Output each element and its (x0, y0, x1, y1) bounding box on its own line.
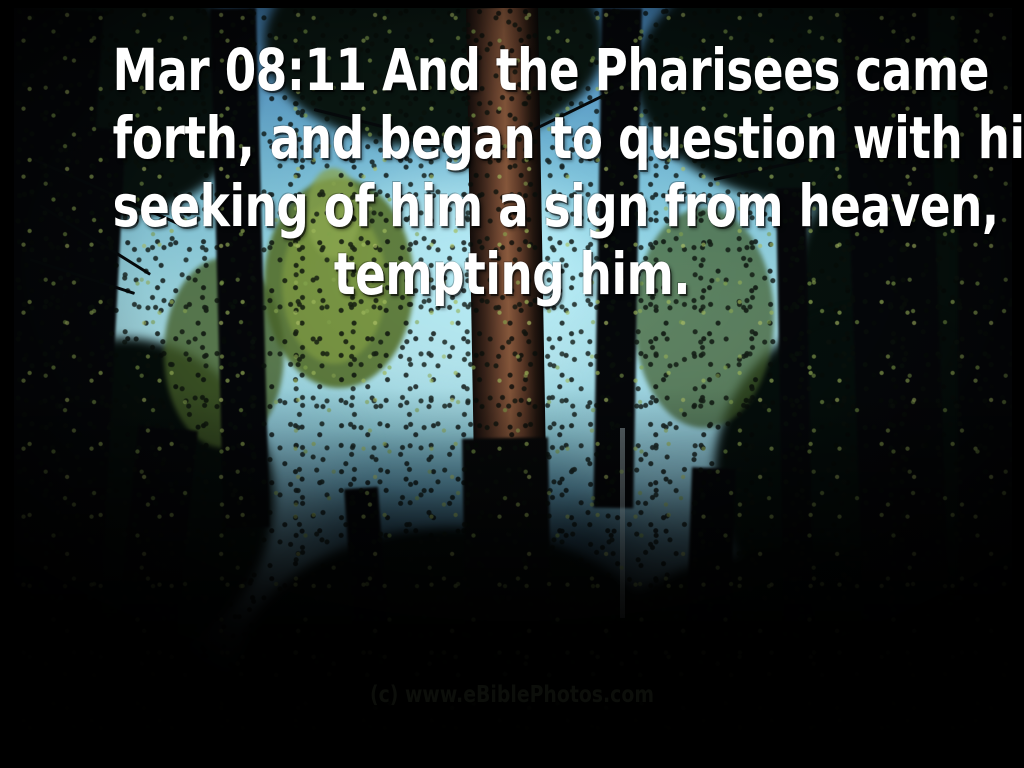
photo-frame: Mar 08:11 And the Pharisees came forth, … (0, 0, 1024, 768)
trunk-right-edge (958, 8, 1012, 760)
lit-conifer-right (634, 208, 774, 428)
lit-conifer-crown-tip (306, 168, 360, 258)
forest-photograph (14, 8, 1012, 760)
snag-thin-center-right (620, 428, 625, 618)
trunk-sequoia-center-shadow (462, 437, 554, 760)
watermark-credit: (c) www.eBiblePhotos.com (92, 684, 932, 707)
